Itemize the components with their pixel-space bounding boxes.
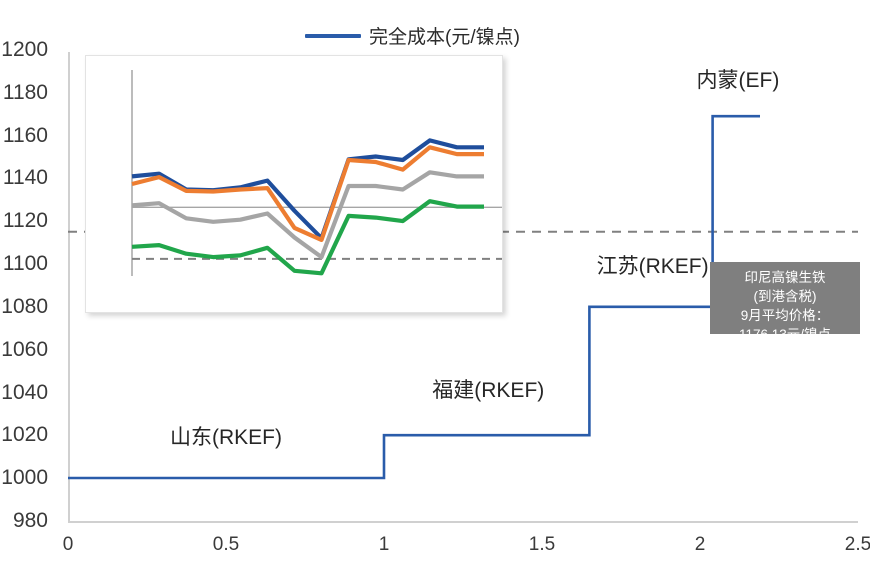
inset-profit-margin-chart [85, 55, 503, 313]
step-label-3: 内蒙(EF) [696, 64, 779, 94]
y-axis-tick-label: 1020 [1, 423, 48, 447]
x-axis-tick-label: 0 [63, 534, 74, 556]
main-legend: 完全成本(元/镍点) [305, 22, 520, 49]
y-axis-tick-label: 1000 [1, 466, 48, 490]
callout-line-4: 1176.13元/镍点 [718, 325, 852, 344]
x-axis-tick-label: 1 [379, 534, 390, 556]
y-axis-tick-label: 1060 [1, 338, 48, 362]
callout-line-2: (到港含税) [718, 287, 852, 306]
legend-label-total-cost: 完全成本(元/镍点) [369, 22, 520, 49]
callout-line-1: 印尼高镍生铁 [718, 268, 852, 287]
inset-series-2 [132, 172, 484, 257]
y-axis-tick-label: 1040 [1, 381, 48, 405]
callout-line-3: 9月平均价格： [718, 306, 852, 325]
y-axis-tick-label: 1100 [3, 252, 48, 276]
y-axis-tick-label: 1120 [3, 209, 48, 233]
inset-plot-area [86, 56, 504, 314]
y-axis-tick-label: 1200 [1, 38, 48, 62]
y-axis-tick-label: 1080 [1, 295, 48, 319]
inset-x-axis-ticks [86, 288, 504, 314]
inset-y-axis-ticks [88, 56, 126, 288]
x-axis-ticks: 00.511.522.5 [0, 534, 870, 564]
x-axis-tick-label: 1.5 [529, 534, 555, 556]
y-axis-ticks: 1200118011601140112011001080106010401020… [0, 50, 62, 520]
y-axis-tick-label: 1180 [3, 81, 48, 105]
x-axis-tick-label: 2 [695, 534, 706, 556]
step-label-1: 福建(RKEF) [432, 374, 544, 404]
legend-swatch-total-cost [305, 34, 361, 38]
x-axis-tick-label: 2.5 [845, 534, 870, 556]
step-label-2: 江苏(RKEF) [597, 250, 709, 280]
y-axis-tick-label: 980 [13, 509, 48, 533]
inset-line-svg [86, 56, 504, 314]
y-axis-tick-label: 1140 [3, 166, 48, 190]
inset-series-3 [132, 201, 484, 273]
y-axis-tick-label: 1160 [3, 124, 48, 148]
x-axis-tick-label: 0.5 [213, 534, 239, 556]
chart-canvas: 完全成本(元/镍点) 12001180116011401120110010801… [0, 0, 870, 575]
callout-indonesia-price: 印尼高镍生铁 (到港含税) 9月平均价格： 1176.13元/镍点 [710, 262, 860, 334]
step-label-0: 山东(RKEF) [170, 421, 282, 451]
